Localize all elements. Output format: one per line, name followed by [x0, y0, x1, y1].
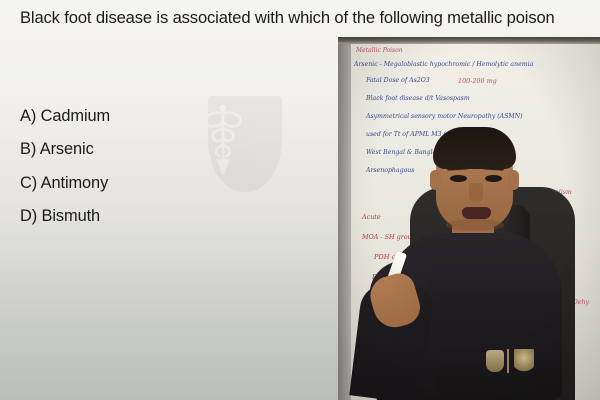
shirt-logo-divider	[507, 349, 509, 373]
note-line-3: 100-200 mg	[458, 77, 497, 85]
option-c[interactable]: C) Antimony	[20, 175, 320, 191]
option-a[interactable]: A) Cadmium	[20, 108, 320, 124]
shirt-emblem-logo-icon	[514, 349, 534, 373]
slide-stage: Black foot disease is associated with wh…	[0, 0, 600, 400]
note-line-9: Acute	[362, 213, 381, 221]
lecture-video-panel[interactable]: Metallic Poison Arsenic - Megaloblastic …	[338, 37, 600, 400]
left-ear	[430, 170, 441, 190]
option-b[interactable]: B) Arsenic	[20, 141, 320, 157]
mouth	[462, 207, 491, 219]
whiteboard-top-frame	[338, 37, 600, 44]
note-line-4: Black foot disease d/t Vasospasm	[366, 95, 470, 102]
right-eye	[485, 175, 502, 182]
chin-shadow	[446, 219, 504, 231]
note-line-0: Metallic Poison	[356, 47, 403, 54]
note-line-5: Asymmetrical sensory motor Neuropathy (A…	[366, 113, 523, 120]
right-ear	[508, 170, 519, 190]
wall-edge	[338, 44, 351, 400]
left-eye	[450, 175, 467, 182]
option-d[interactable]: D) Bismuth	[20, 208, 320, 224]
note-line-1: Arsenic - Megaloblastic hypochromic / He…	[354, 61, 533, 68]
hair	[433, 127, 516, 169]
shirt-shield-logo-icon	[486, 350, 504, 372]
options-list: A) Cadmium B) Arsenic C) Antimony D) Bis…	[20, 108, 320, 242]
note-line-10: MOA - SH group	[362, 233, 416, 241]
note-line-2: Fatal Dose of As2O3	[366, 77, 430, 84]
note-line-8: Arsenophagous	[366, 167, 414, 174]
nose	[469, 183, 483, 203]
question-text: Black foot disease is associated with wh…	[20, 6, 590, 31]
